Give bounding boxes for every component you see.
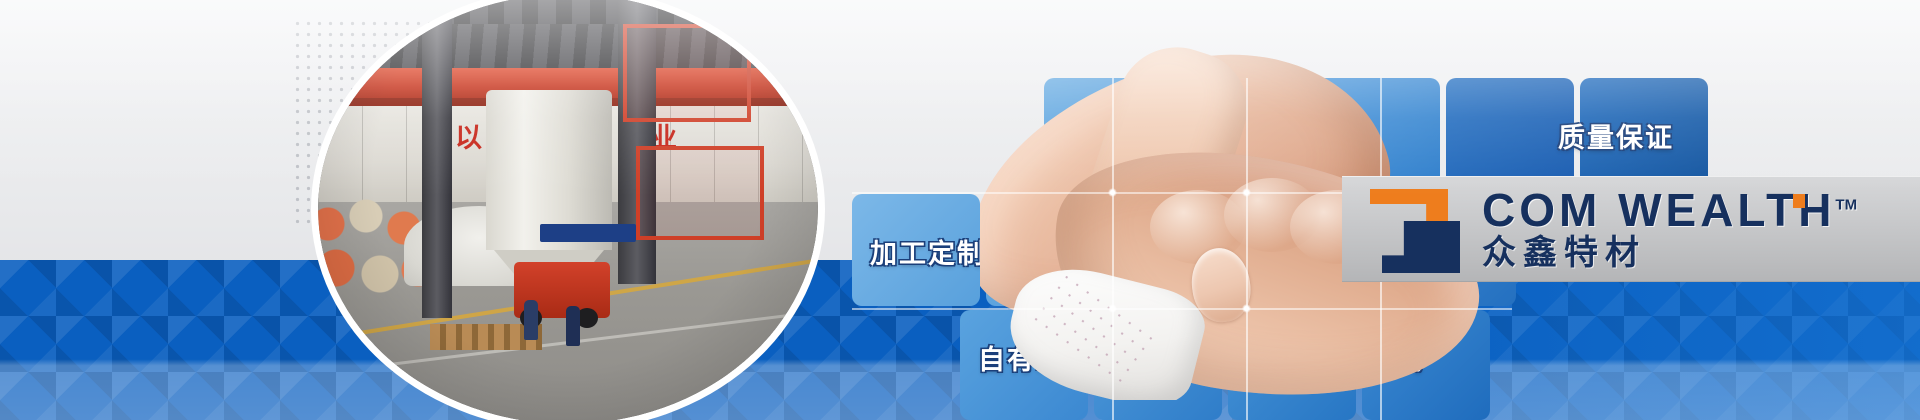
tile-deco-r1c4 — [1446, 78, 1574, 190]
tile-multiple-styles-label: 多种款式 — [1308, 338, 1424, 377]
logo-english-text: COM WEALTH — [1482, 184, 1835, 236]
tile-custom-processing-label: 加工定制 — [870, 232, 986, 271]
tile-quality-assurance-label: 质量保证 — [1558, 116, 1674, 155]
tile-own-factory[interactable]: 自有工厂 — [960, 310, 1088, 420]
tile-quality-assurance[interactable]: 质量保证 — [1580, 78, 1708, 190]
tile-deco-r3c2 — [1094, 310, 1222, 420]
tile-manufacturer-label: 生产厂家 — [1070, 116, 1186, 155]
tile-multiple-styles[interactable]: 多种款式 — [1288, 310, 1488, 420]
tile-custom-processing[interactable]: 加工定制 — [852, 194, 980, 306]
tile-manufacturer[interactable]: 生产厂家 — [1044, 78, 1306, 190]
logo-orange-accent — [1793, 194, 1805, 208]
logo-english-name: COM WEALTHTM — [1482, 188, 1857, 233]
tile-own-factory-label: 自有工厂 — [978, 338, 1094, 377]
com-wealth-logo-mark — [1362, 183, 1466, 275]
trademark-symbol: TM — [1835, 197, 1857, 214]
company-logo-plate[interactable]: COM WEALTHTM 众鑫特材 — [1342, 176, 1920, 282]
logo-chinese-name: 众鑫特材 — [1482, 236, 1857, 270]
promotional-banner: 以 精 立 业 — [0, 0, 1920, 420]
tile-deco-r2c2 — [986, 194, 1114, 306]
tile-deco-r1c3 — [1312, 78, 1440, 190]
tile-deco-r2c3 — [1120, 194, 1248, 306]
logo-text-group: COM WEALTHTM 众鑫特材 — [1482, 188, 1857, 269]
logo-mark-navy-shape — [1382, 221, 1460, 273]
